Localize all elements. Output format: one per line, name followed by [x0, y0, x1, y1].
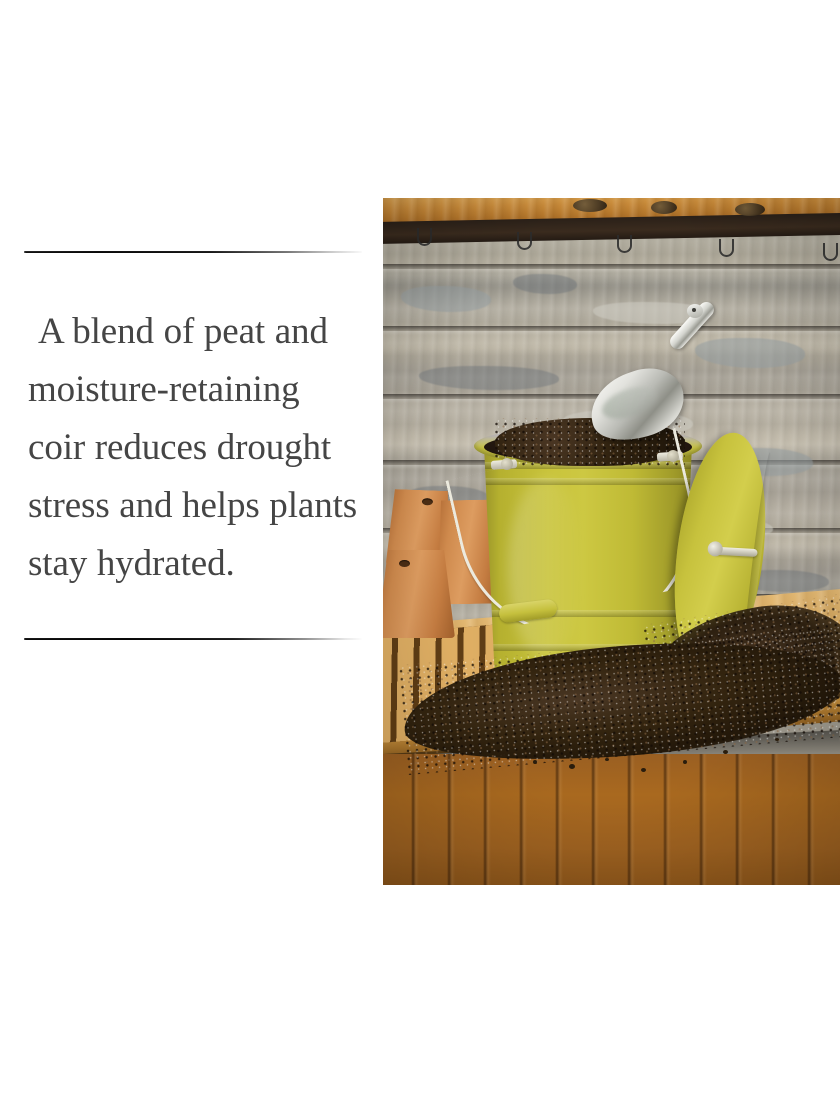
soil-crumb — [569, 764, 575, 769]
pot-drain-hole — [399, 560, 410, 567]
terracotta-pot — [383, 550, 455, 638]
plank-seam — [383, 326, 840, 331]
wall-hook-icon — [719, 239, 734, 257]
quote-top-rule — [24, 250, 362, 253]
potting-bench-front-slats — [383, 754, 840, 885]
quote-bottom-rule — [24, 637, 362, 640]
soil-crumb — [533, 760, 537, 764]
pull-quote-text: A blend of peat and moisture-retaining c… — [0, 253, 364, 637]
wall-hook-icon — [617, 235, 632, 253]
pot-drain-hole — [422, 498, 433, 505]
wall-hook-icon — [517, 232, 532, 250]
shelf-and-hook-rail — [383, 198, 840, 264]
soil-crumb — [683, 760, 687, 764]
shelf-object — [735, 203, 765, 216]
soil-crumb — [723, 750, 728, 754]
soil-crumb — [641, 768, 646, 772]
soil-crumb — [605, 758, 609, 761]
shelf-object — [651, 201, 677, 214]
wall-hook-icon — [823, 243, 838, 261]
metal-scoop-hang-hole — [687, 304, 703, 318]
paint-peel — [401, 286, 491, 312]
product-photo — [383, 198, 840, 885]
soil-crumb — [775, 738, 779, 741]
paint-peel — [695, 338, 805, 368]
pull-quote-block: A blend of peat and moisture-retaining c… — [0, 250, 380, 640]
shelf-object — [573, 199, 607, 212]
paint-peel — [513, 274, 577, 294]
soil-crumb — [501, 754, 506, 758]
page-canvas: A blend of peat and moisture-retaining c… — [0, 0, 840, 1120]
paint-peel — [419, 366, 559, 390]
wall-hook-icon — [417, 228, 432, 246]
plank-seam — [383, 264, 840, 269]
